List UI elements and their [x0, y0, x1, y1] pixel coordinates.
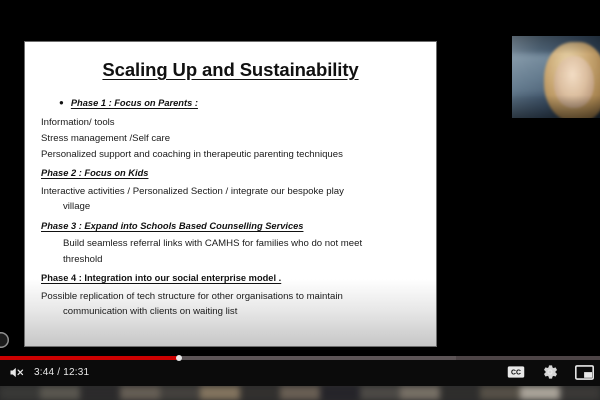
page-content-below-player — [0, 386, 600, 400]
phase-4-heading: Phase 4 : Integration into our social en… — [41, 272, 281, 285]
phase-3-line-2: threshold — [41, 252, 424, 268]
blurred-thumb — [40, 386, 80, 400]
phase-4-line-2: communication with clients on waiting li… — [41, 304, 424, 320]
blurred-thumb — [240, 386, 280, 400]
volume-muted-icon[interactable] — [6, 362, 26, 382]
blurred-thumb — [160, 386, 200, 400]
progress-scrubber-handle[interactable] — [176, 355, 182, 361]
blurred-thumb — [120, 386, 160, 400]
phase-1-line-3: Personalized support and coaching in the… — [41, 147, 424, 163]
video-stage[interactable]: Scaling Up and Sustainability ● Phase 1 … — [0, 0, 600, 356]
svg-text:CC: CC — [511, 370, 521, 377]
miniplayer-icon[interactable] — [574, 362, 594, 382]
blurred-thumb — [400, 386, 440, 400]
phase-4-heading-row: Phase 4 : Integration into our social en… — [41, 267, 424, 288]
blurred-thumb — [80, 386, 120, 400]
player-controls-left: 3:44 / 12:31 — [6, 361, 89, 383]
webcam-vignette — [512, 36, 600, 118]
blurred-thumb — [200, 386, 240, 400]
blurred-thumb — [280, 386, 320, 400]
player-controls-right: CC — [506, 361, 594, 383]
progress-bar[interactable] — [0, 356, 600, 360]
blurred-thumbnail-row — [0, 386, 600, 400]
blurred-thumb — [480, 386, 520, 400]
phase-2-line-2: village — [41, 199, 424, 215]
phase-2-heading-row: Phase 2 : Focus on Kids — [41, 162, 424, 183]
blurred-thumb — [0, 386, 40, 400]
cc-icon[interactable]: CC — [506, 362, 526, 382]
presentation-slide: Scaling Up and Sustainability ● Phase 1 … — [25, 42, 436, 346]
blurred-thumb — [360, 386, 400, 400]
phase-2-heading: Phase 2 : Focus on Kids — [41, 167, 148, 180]
presenter-webcam — [512, 36, 600, 118]
bullet-icon: ● — [59, 99, 64, 107]
phase-3-heading: Phase 3 : Expand into Schools Based Coun… — [41, 220, 303, 233]
phase-3-heading-row: Phase 3 : Expand into Schools Based Coun… — [41, 215, 424, 236]
left-edge-badge-icon — [0, 332, 9, 348]
phase-1-heading-row: ● Phase 1 : Focus on Parents : — [41, 92, 424, 113]
slide-body: ● Phase 1 : Focus on Parents : Informati… — [37, 92, 424, 320]
phase-1-line-1: Information/ tools — [41, 115, 424, 131]
blurred-thumb — [320, 386, 360, 400]
blurred-thumb — [520, 386, 560, 400]
phase-1-heading: Phase 1 : Focus on Parents : — [71, 97, 198, 110]
player-control-bar: 3:44 / 12:31 CC — [0, 356, 600, 386]
time-display: 3:44 / 12:31 — [34, 367, 89, 378]
gear-icon[interactable] — [540, 362, 560, 382]
phase-2-line-1: Interactive activities / Personalized Se… — [41, 184, 424, 200]
phase-3-line-1: Build seamless referral links with CAMHS… — [41, 236, 424, 252]
video-player-page: Scaling Up and Sustainability ● Phase 1 … — [0, 0, 600, 400]
blurred-thumb — [440, 386, 480, 400]
blurred-thumb — [560, 386, 600, 400]
slide-title: Scaling Up and Sustainability — [37, 59, 424, 81]
phase-1-line-2: Stress management /Self care — [41, 131, 424, 147]
progress-played — [0, 356, 179, 360]
phase-4-line-1: Possible replication of tech structure f… — [41, 289, 424, 305]
